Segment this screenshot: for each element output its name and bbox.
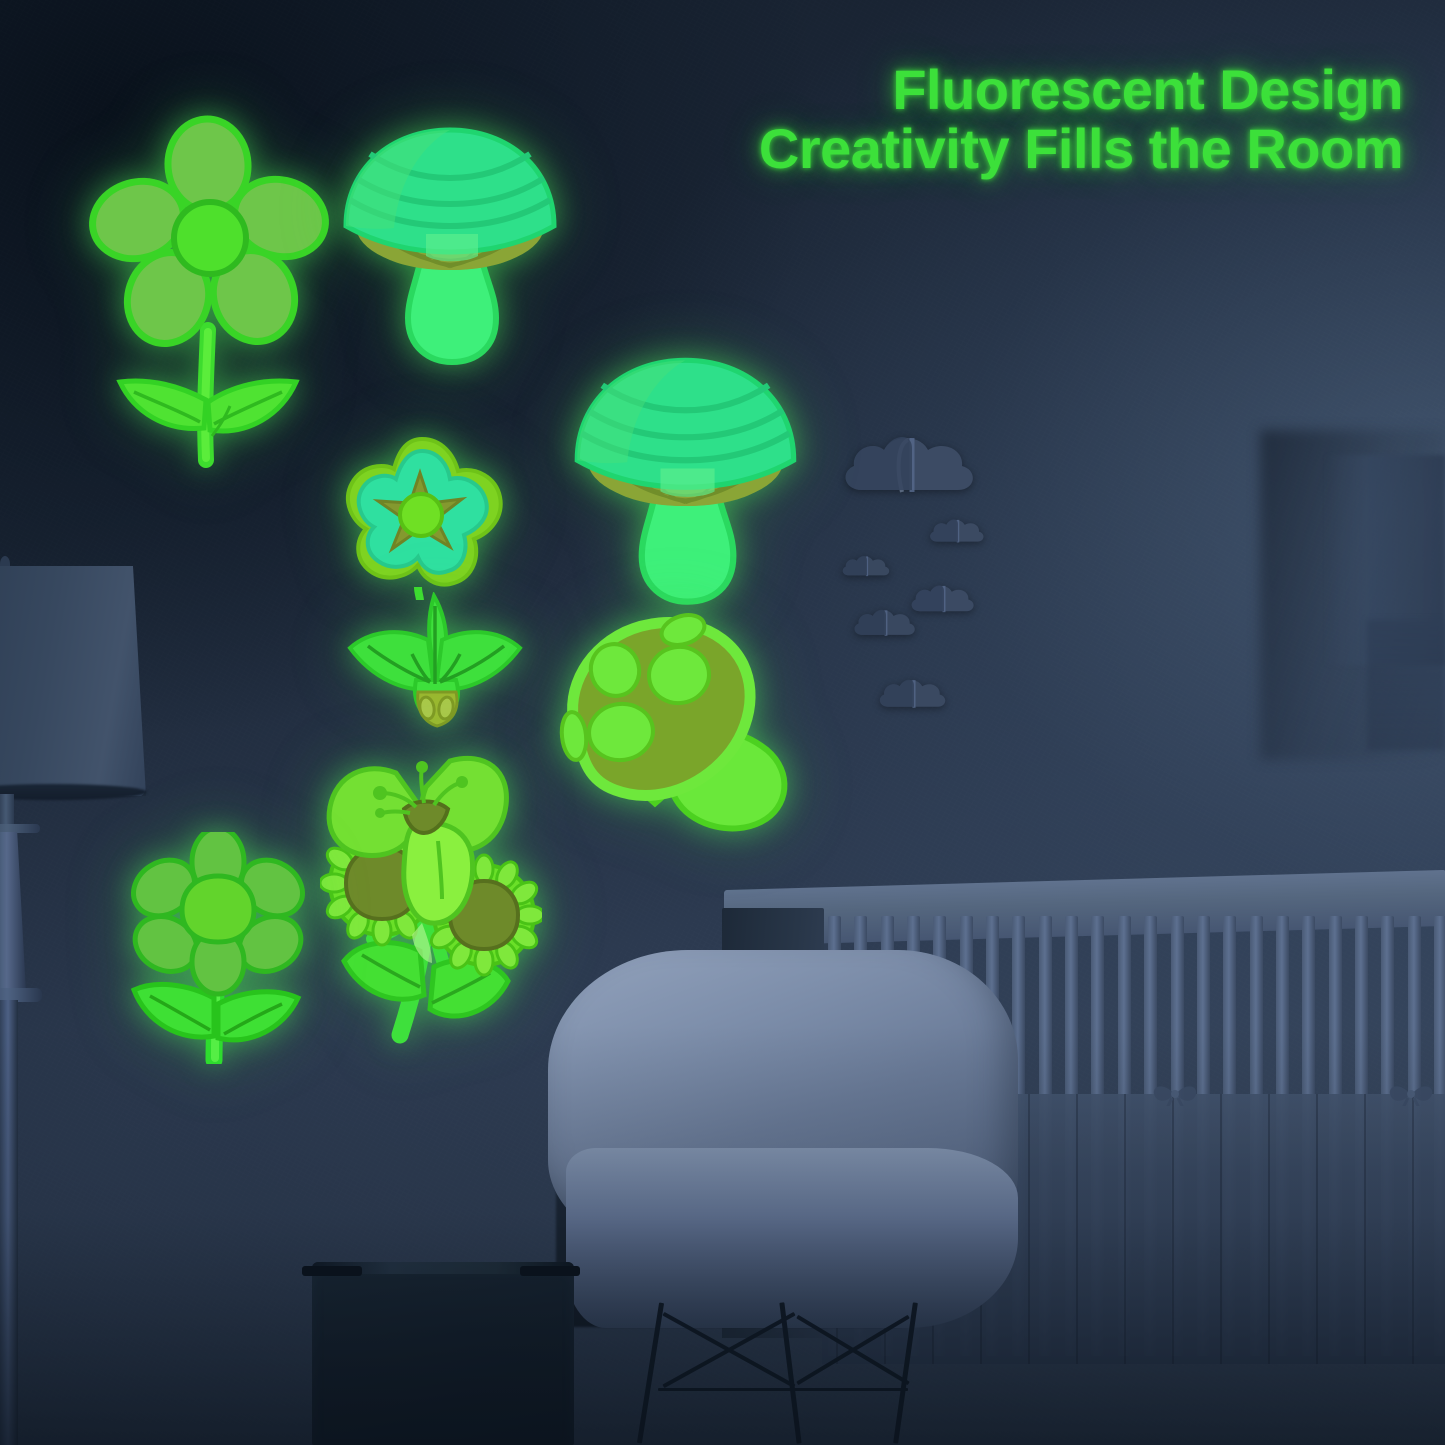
decal-sunflower-cluster	[320, 755, 542, 1047]
lamp-shade-rim	[0, 784, 147, 800]
decal-mushroom-small	[336, 122, 566, 370]
decal-leaf-sprout	[342, 592, 532, 752]
paper-cloud-6	[876, 674, 952, 716]
decal-mushroom-large	[560, 352, 813, 610]
lamp-collar	[0, 824, 40, 833]
decal-star-flower	[330, 425, 512, 600]
decal-daisy-large	[84, 110, 344, 470]
paper-cloud-2	[927, 514, 989, 550]
decal-mushroom-spotted	[543, 612, 808, 847]
nursery-room-scene: Fluorescent Design Creativity Fills the …	[0, 0, 1445, 1445]
paper-cloud-3	[840, 551, 894, 583]
headline-text: Fluorescent Design Creativity Fills the …	[759, 60, 1403, 179]
headline-line-1: Fluorescent Design	[759, 60, 1403, 119]
floor-shadow-gradient	[0, 1025, 1445, 1445]
decal-daisy-small	[122, 832, 314, 1064]
lamp-shade	[0, 566, 146, 796]
lamp-column	[0, 832, 26, 992]
wall-edge-lower	[1367, 620, 1445, 750]
paper-cloud-5	[851, 604, 921, 644]
headline-line-2: Creativity Fills the Room	[759, 119, 1403, 178]
paper-cloud-1	[838, 428, 986, 506]
